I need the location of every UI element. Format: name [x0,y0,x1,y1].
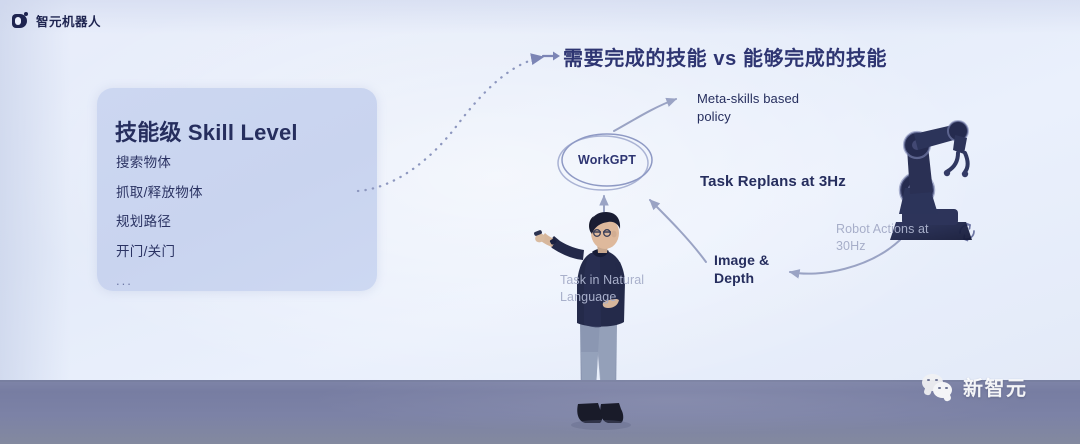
skill-card-list: 搜索物体 抓取/释放物体 规划路径 开门/关门 ... [116,156,366,303]
list-item: 抓取/释放物体 [116,186,366,200]
watermark: 新智元 [922,372,1028,401]
agibot-logo-icon [12,12,29,29]
brand-logo: 智元机器人 [12,11,101,30]
screen-left-shading [0,0,70,382]
label-image-depth: Image & Depth [714,251,794,288]
list-item-more: ... [116,274,366,287]
label-task-replans: Task Replans at 3Hz [700,172,846,192]
page-title: 需要完成的技能 vs 能够完成的技能 [563,42,887,71]
stage-floor-reflection [0,380,1080,444]
skill-card-title: 技能级 Skill Level [115,115,298,147]
label-meta-skills: Meta-skills based policy [697,90,827,125]
wechat-icon [922,374,956,400]
skill-level-card: 技能级 Skill Level 搜索物体 抓取/释放物体 规划路径 开门/关门 … [97,88,377,291]
list-item: 搜索物体 [116,156,366,170]
screenshot-stage: 智元机器人 技能级 Skill Level 搜索物体 抓取/释放物体 规划路径 … [0,0,1080,444]
label-task-natural-language: Task in Natural Language [560,272,688,306]
list-item: 开门/关门 [116,245,366,259]
watermark-label: 新智元 [963,372,1028,401]
screen-top-shading [0,0,1080,34]
workgpt-node-label: WorkGPT [575,153,639,167]
label-robot-actions: Robot Actions at 30Hz [836,221,948,255]
list-item: 规划路径 [116,215,366,229]
brand-name: 智元机器人 [36,11,101,30]
